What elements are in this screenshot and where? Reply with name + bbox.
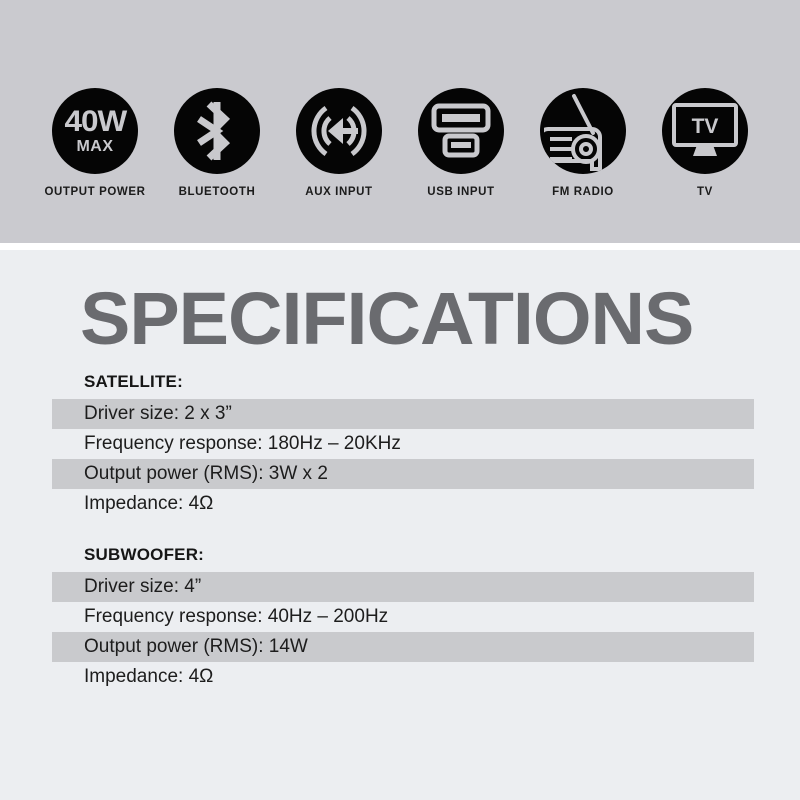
- tv-screen-label: TV: [692, 115, 719, 138]
- watt-badge-value: 40W: [64, 107, 126, 137]
- feature-item-usb-input[interactable]: USB INPUT: [400, 0, 522, 198]
- spec-row: Frequency response: 40Hz – 200Hz: [52, 602, 754, 632]
- feature-icon-row: 40W MAX OUTPUT POWER BLUETOOTH: [0, 0, 800, 243]
- spec-group-subwoofer: SUBWOOFER: Driver size: 4” Frequency res…: [0, 545, 800, 692]
- band-divider: [0, 243, 800, 250]
- feature-band: 40W MAX OUTPUT POWER BLUETOOTH: [0, 0, 800, 243]
- spec-row: Frequency response: 180Hz – 20KHz: [52, 429, 754, 459]
- watt-badge-sub: MAX: [76, 139, 113, 155]
- feature-item-bluetooth[interactable]: BLUETOOTH: [156, 0, 278, 198]
- spec-group-satellite: SATELLITE: Driver size: 2 x 3” Frequency…: [0, 372, 800, 519]
- bluetooth-icon: [174, 88, 260, 174]
- spec-row: Impedance: 4Ω: [52, 662, 754, 692]
- feature-item-output-power[interactable]: 40W MAX OUTPUT POWER: [34, 0, 156, 198]
- watt-badge-icon: 40W MAX: [52, 88, 138, 174]
- feature-label-tv: TV: [697, 186, 713, 198]
- page-title: SPECIFICATIONS: [80, 282, 693, 356]
- feature-label-usb-input: USB INPUT: [427, 186, 494, 198]
- spec-group-heading-satellite: SATELLITE:: [84, 372, 800, 392]
- feature-item-fm-radio[interactable]: FM RADIO: [522, 0, 644, 198]
- feature-label-aux-input: AUX INPUT: [305, 186, 372, 198]
- tv-icon: TV: [662, 88, 748, 174]
- feature-label-bluetooth: BLUETOOTH: [179, 186, 256, 198]
- spec-row: Driver size: 2 x 3”: [52, 399, 754, 429]
- feature-item-aux-input[interactable]: AUX INPUT: [278, 0, 400, 198]
- spec-row: Impedance: 4Ω: [52, 489, 754, 519]
- aux-input-icon: [296, 88, 382, 174]
- spec-row: Driver size: 4”: [52, 572, 754, 602]
- usb-input-icon: [418, 88, 504, 174]
- feature-item-tv[interactable]: TV TV: [644, 0, 766, 198]
- fm-radio-icon: [540, 88, 626, 174]
- spec-row: Output power (RMS): 3W x 2: [52, 459, 754, 489]
- spec-group-heading-subwoofer: SUBWOOFER:: [84, 545, 800, 565]
- spec-row: Output power (RMS): 14W: [52, 632, 754, 662]
- feature-label-output-power: OUTPUT POWER: [44, 186, 145, 198]
- specifications-panel: SPECIFICATIONS SATELLITE: Driver size: 2…: [0, 250, 800, 800]
- feature-label-fm-radio: FM RADIO: [552, 186, 614, 198]
